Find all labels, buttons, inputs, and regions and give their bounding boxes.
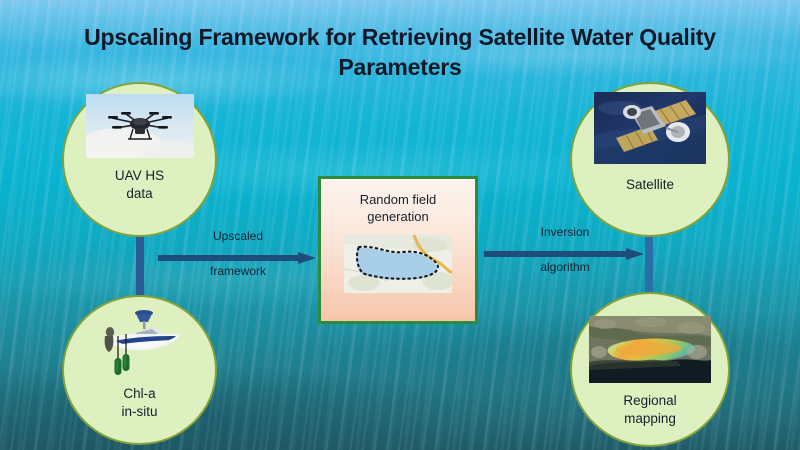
process-label: Random field generation — [360, 191, 437, 225]
satellite-photo-icon — [594, 92, 706, 164]
node-uav-label: UAV HS data — [115, 167, 164, 203]
boat-sampling-icon — [92, 303, 188, 381]
node-chla-label: Chl-a in-situ — [121, 385, 157, 421]
arrow-inversion-label-top: Inversion — [484, 225, 646, 240]
arrow-inversion-label-bottom: algorithm — [484, 260, 646, 275]
chlorophyll-map-icon — [589, 316, 711, 383]
arrow-upscaled-label-top: Upscaled — [158, 229, 318, 244]
node-satellite[interactable]: Satellite — [570, 82, 730, 237]
node-regional-label: Regional mapping — [623, 392, 676, 428]
node-chla-in-situ[interactable]: Chl-a in-situ — [62, 295, 217, 445]
random-field-map-icon — [344, 235, 452, 293]
arrow-inversion-algorithm: Inversion algorithm — [484, 224, 646, 282]
drone-photo-icon — [86, 94, 194, 158]
node-regional-mapping[interactable]: Regional mapping — [570, 292, 730, 447]
process-random-field-generation[interactable]: Random field generation — [318, 176, 478, 324]
arrow-upscaled-framework: Upscaled framework — [158, 228, 318, 286]
node-uav-hs-data[interactable]: UAV HS data — [62, 82, 217, 237]
arrow-upscaled-label-bottom: framework — [158, 264, 318, 279]
figure-title: Upscaling Framework for Retrieving Satel… — [60, 22, 740, 82]
figure-canvas: Upscaling Framework for Retrieving Satel… — [0, 0, 800, 450]
node-satellite-label: Satellite — [626, 176, 674, 194]
